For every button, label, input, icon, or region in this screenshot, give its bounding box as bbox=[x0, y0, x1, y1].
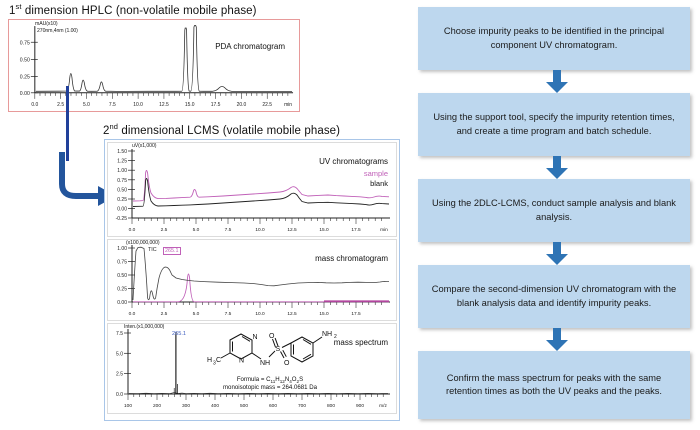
flow-step-2[interactable]: Using the support tool, specify the impu… bbox=[418, 93, 690, 156]
ms-y-axis-unit: Inten.(x1,000,000) bbox=[124, 324, 164, 330]
svg-text:H: H bbox=[207, 357, 212, 364]
svg-text:800: 800 bbox=[327, 403, 335, 409]
svg-text:700: 700 bbox=[298, 403, 306, 409]
svg-text:0.75: 0.75 bbox=[20, 40, 30, 46]
svg-text:2.5: 2.5 bbox=[57, 102, 64, 108]
svg-text:7.5: 7.5 bbox=[116, 331, 123, 337]
svg-text:2.5: 2.5 bbox=[116, 372, 123, 378]
svg-text:2: 2 bbox=[334, 334, 337, 340]
uv-legend-blank: blank bbox=[370, 179, 388, 188]
svg-text:0.50: 0.50 bbox=[20, 57, 30, 63]
svg-text:12.5: 12.5 bbox=[159, 102, 169, 108]
ms-formula-line: Formula = C11H12N4O2S bbox=[180, 376, 360, 384]
svg-text:0.25: 0.25 bbox=[117, 197, 127, 203]
uv-y-axis-unit: uV(x1,000) bbox=[132, 143, 156, 149]
svg-text:1.00: 1.00 bbox=[117, 168, 127, 174]
figure-root: 1st dimension HPLC (non-volatile mobile … bbox=[0, 0, 700, 430]
svg-text:2.5: 2.5 bbox=[161, 227, 168, 233]
flow-step-2-text: Using the support tool, specify the impu… bbox=[428, 111, 680, 138]
flow-arrow-2-icon bbox=[544, 156, 570, 180]
svg-text:0.75: 0.75 bbox=[117, 178, 127, 184]
flow-arrow-4-icon bbox=[544, 328, 570, 352]
lcms-panel: uV(x1,000) UV chromatograms sample blank… bbox=[104, 139, 400, 421]
svg-text:1.50: 1.50 bbox=[117, 149, 127, 155]
svg-text:5.0: 5.0 bbox=[193, 311, 200, 317]
ms-peak-label: 265.1 bbox=[172, 331, 186, 337]
svg-text:1.00: 1.00 bbox=[117, 246, 127, 252]
svg-text:N: N bbox=[239, 358, 244, 365]
svg-text:5.0: 5.0 bbox=[83, 102, 90, 108]
svg-text:100: 100 bbox=[124, 403, 132, 409]
svg-text:10.0: 10.0 bbox=[255, 227, 265, 233]
flow-step-1-text: Choose impurity peaks to be identified i… bbox=[428, 25, 680, 52]
pda-detector-label: 270nm,4nm (1.00) bbox=[37, 28, 78, 34]
svg-text:C: C bbox=[216, 357, 221, 364]
svg-text:2.5: 2.5 bbox=[161, 311, 168, 317]
svg-text:15.0: 15.0 bbox=[319, 311, 329, 317]
pda-chromatogram-panel: mAU(x10) 270nm,4nm (1.00) PDA chromatogr… bbox=[8, 19, 300, 112]
svg-text:0.50: 0.50 bbox=[117, 187, 127, 193]
svg-text:12.5: 12.5 bbox=[287, 311, 297, 317]
flow-step-1[interactable]: Choose impurity peaks to be identified i… bbox=[418, 7, 690, 70]
svg-text:min: min bbox=[284, 102, 292, 108]
dim2-title-ordinal: nd bbox=[110, 122, 119, 131]
ms-mass-line: monoisotopic mass = 264.0681 Da bbox=[180, 384, 360, 392]
mc-tic-label: TIC bbox=[148, 247, 157, 253]
svg-text:0.00: 0.00 bbox=[20, 91, 30, 97]
flow-arrow-1-icon bbox=[544, 70, 570, 94]
svg-text:0.00: 0.00 bbox=[117, 207, 127, 213]
svg-text:600: 600 bbox=[269, 403, 277, 409]
svg-text:-0.25: -0.25 bbox=[116, 216, 128, 222]
uv-legend-sample: sample bbox=[364, 169, 388, 178]
svg-text:0.0: 0.0 bbox=[31, 102, 38, 108]
svg-text:7.5: 7.5 bbox=[225, 311, 232, 317]
svg-text:S: S bbox=[276, 346, 281, 353]
flow-step-4-text: Compare the second-dimension UV chromato… bbox=[428, 283, 680, 310]
svg-text:17.5: 17.5 bbox=[351, 227, 361, 233]
svg-text:22.5: 22.5 bbox=[262, 102, 272, 108]
svg-text:NH: NH bbox=[260, 360, 270, 367]
svg-text:5.0: 5.0 bbox=[193, 227, 200, 233]
svg-text:0.0: 0.0 bbox=[129, 311, 136, 317]
mc-plot-title: mass chromatogram bbox=[315, 254, 388, 263]
svg-text:17.5: 17.5 bbox=[211, 102, 221, 108]
uv-plot-title: UV chromatograms bbox=[319, 157, 388, 166]
svg-text:300: 300 bbox=[182, 403, 190, 409]
svg-text:500: 500 bbox=[240, 403, 248, 409]
analysis-panels: 1st dimension HPLC (non-volatile mobile … bbox=[0, 0, 408, 430]
svg-text:0.0: 0.0 bbox=[129, 227, 136, 233]
svg-text:m/z: m/z bbox=[379, 403, 387, 409]
svg-text:min: min bbox=[380, 227, 388, 233]
flow-step-3-text: Using the 2DLC-LCMS, conduct sample anal… bbox=[428, 197, 680, 224]
dim2-title: 2nd dimensional LCMS (volatile mobile ph… bbox=[103, 122, 340, 137]
svg-text:5.0: 5.0 bbox=[116, 351, 123, 357]
svg-text:10.0: 10.0 bbox=[255, 311, 265, 317]
svg-text:0.75: 0.75 bbox=[117, 260, 127, 266]
svg-text:17.5: 17.5 bbox=[351, 311, 361, 317]
svg-text:0.00: 0.00 bbox=[117, 300, 127, 306]
svg-text:0.0: 0.0 bbox=[116, 392, 123, 398]
svg-text:15.0: 15.0 bbox=[319, 227, 329, 233]
pda-plot-title: PDA chromatogram bbox=[215, 42, 285, 51]
svg-text:0.50: 0.50 bbox=[117, 273, 127, 279]
pda-y-axis-unit: mAU(x10) bbox=[35, 21, 58, 27]
mass-spectrum-subpanel: Inten.(x1,000,000) 265.1 mass spectrum bbox=[107, 323, 397, 414]
svg-text:400: 400 bbox=[211, 403, 219, 409]
svg-text:O: O bbox=[269, 333, 275, 340]
flow-step-5-text: Confirm the mass spectrum for peaks with… bbox=[428, 372, 680, 399]
flow-step-4[interactable]: Compare the second-dimension UV chromato… bbox=[418, 265, 690, 328]
svg-text:20.0: 20.0 bbox=[237, 102, 247, 108]
svg-text:O: O bbox=[284, 360, 290, 367]
svg-text:15.0: 15.0 bbox=[185, 102, 195, 108]
chemical-structure-diagram: H3C N N NH O S O NH2 bbox=[196, 326, 346, 378]
dim1-title-text: dimension HPLC (non-volatile mobile phas… bbox=[22, 5, 257, 17]
dim2-title-text: dimensional LCMS (volatile mobile phase) bbox=[118, 125, 340, 137]
uv-chromatogram-subpanel: uV(x1,000) UV chromatograms sample blank… bbox=[107, 142, 397, 237]
svg-text:900: 900 bbox=[356, 403, 364, 409]
dim1-title: 1st dimension HPLC (non-volatile mobile … bbox=[9, 2, 257, 17]
workflow-flowchart: Choose impurity peaks to be identified i… bbox=[414, 0, 700, 430]
svg-text:0.25: 0.25 bbox=[117, 287, 127, 293]
flow-step-3[interactable]: Using the 2DLC-LCMS, conduct sample anal… bbox=[418, 179, 690, 242]
flow-arrow-3-icon bbox=[544, 242, 570, 266]
svg-text:7.5: 7.5 bbox=[109, 102, 116, 108]
svg-text:200: 200 bbox=[153, 403, 161, 409]
svg-text:7.5: 7.5 bbox=[225, 227, 232, 233]
mc-mz-label: 265.1 bbox=[163, 247, 181, 255]
mass-chromatogram-subpanel: (x100,000,000) TIC 265.1 mass chromatogr… bbox=[107, 239, 397, 321]
svg-text:N: N bbox=[253, 334, 258, 341]
svg-text:12.5: 12.5 bbox=[287, 227, 297, 233]
svg-text:0.25: 0.25 bbox=[20, 75, 30, 81]
svg-text:NH: NH bbox=[322, 331, 332, 338]
svg-text:10.0: 10.0 bbox=[133, 102, 143, 108]
mc-y-axis-unit: (x100,000,000) bbox=[126, 240, 160, 246]
ms-formula-block: Formula = C11H12N4O2S monoisotopic mass … bbox=[180, 376, 360, 392]
svg-text:1.25: 1.25 bbox=[117, 159, 127, 165]
flow-step-5[interactable]: Confirm the mass spectrum for peaks with… bbox=[418, 351, 690, 419]
